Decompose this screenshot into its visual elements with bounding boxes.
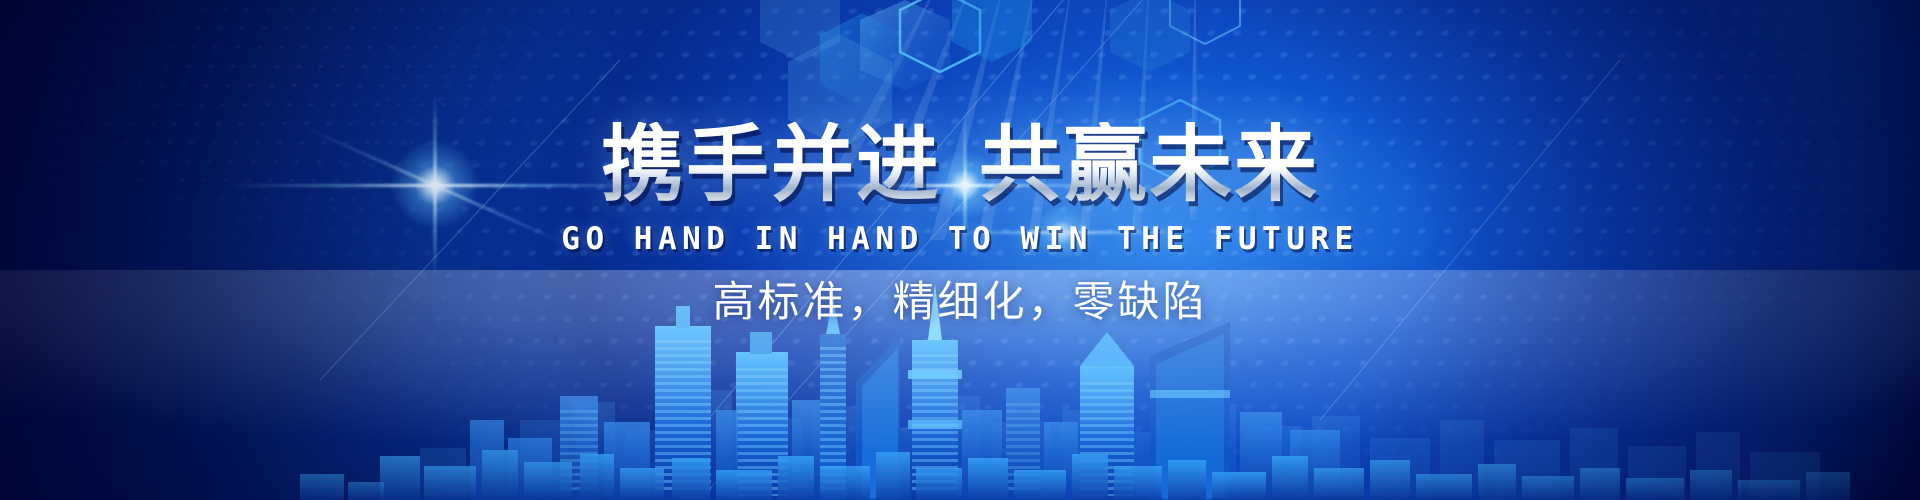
banner-title-part2: 共赢未来 [979,116,1319,213]
promotional-banner: 携手并进共赢未来 GO HAND IN HAND TO WIN THE FUTU… [0,0,1920,500]
banner-subtitle-english: GO HAND IN HAND TO WIN THE FUTURE [0,222,1920,256]
banner-title: 携手并进共赢未来 [0,122,1920,208]
banner-text-content: 携手并进共赢未来 GO HAND IN HAND TO WIN THE FUTU… [0,0,1920,500]
banner-subtitle-chinese: 高标准，精细化，零缺陷 [0,278,1920,326]
banner-title-part1: 携手并进 [601,116,941,213]
